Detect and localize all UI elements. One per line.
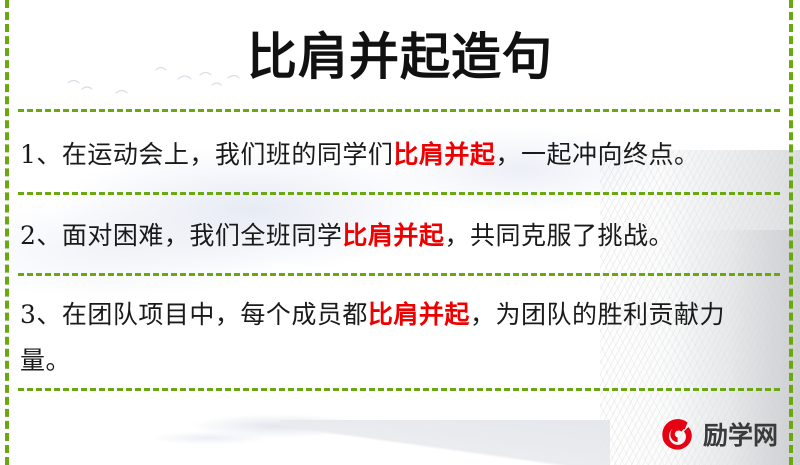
sentence-3-keyword: 比肩并起 — [368, 300, 470, 329]
border-left-dashed — [5, 0, 9, 465]
site-logo[interactable]: 励学网 — [657, 413, 778, 457]
sentence-item-1: 1、在运动会上，我们班的同学们比肩并起，一起冲向终点。 — [20, 132, 772, 178]
sentence-2-keyword: 比肩并起 — [342, 221, 444, 250]
separator-under-title — [18, 109, 780, 112]
sentence-2-text-after: ，共同克服了挑战。 — [444, 221, 674, 250]
sentence-1-text-before: 在运动会上，我们班的同学们 — [62, 140, 394, 169]
page-title: 比肩并起造句 — [0, 22, 800, 92]
sentence-item-3: 3、在团队项目中，每个成员都比肩并起，为团队的胜利贡献力量。 — [20, 292, 772, 384]
sentence-3-number: 3、 — [20, 300, 62, 329]
separator-after-sentence-2 — [18, 273, 780, 276]
sentence-2-text-before: 面对困难，我们全班同学 — [62, 221, 343, 250]
sentence-example-card: 比肩并起造句 1、在运动会上，我们班的同学们比肩并起，一起冲向终点。 2、面对困… — [0, 0, 800, 465]
sentence-item-2: 2、面对困难，我们全班同学比肩并起，共同克服了挑战。 — [20, 213, 772, 259]
sentence-3-text-before: 在团队项目中，每个成员都 — [62, 300, 368, 329]
ink-wash-shoreline-watermark — [280, 420, 610, 465]
site-logo-text: 励学网 — [703, 423, 778, 448]
ink-wash-boat-watermark — [120, 392, 460, 462]
separator-after-sentence-3 — [18, 388, 780, 391]
sentence-2-number: 2、 — [20, 221, 62, 250]
sentence-1-text-after: ，一起冲向终点。 — [495, 140, 699, 169]
sentence-1-number: 1、 — [20, 140, 62, 169]
flame-swirl-icon — [657, 415, 697, 455]
sentence-1-keyword: 比肩并起 — [393, 140, 495, 169]
separator-after-sentence-1 — [18, 192, 780, 195]
border-right-dashed — [789, 0, 793, 465]
